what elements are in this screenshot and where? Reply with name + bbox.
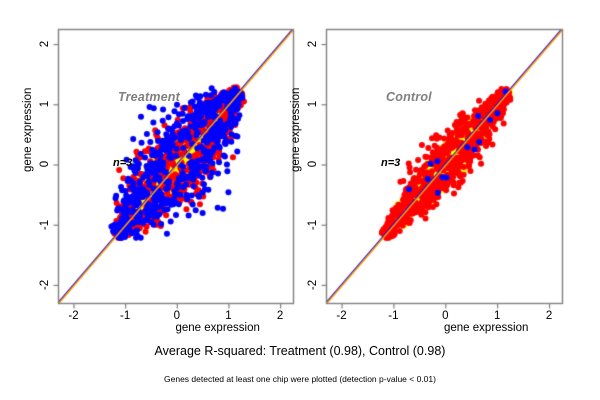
scatter-plot-canvas bbox=[0, 0, 600, 400]
figure-root: Treatment n=3 Control n=3 gene expressio… bbox=[0, 0, 600, 400]
